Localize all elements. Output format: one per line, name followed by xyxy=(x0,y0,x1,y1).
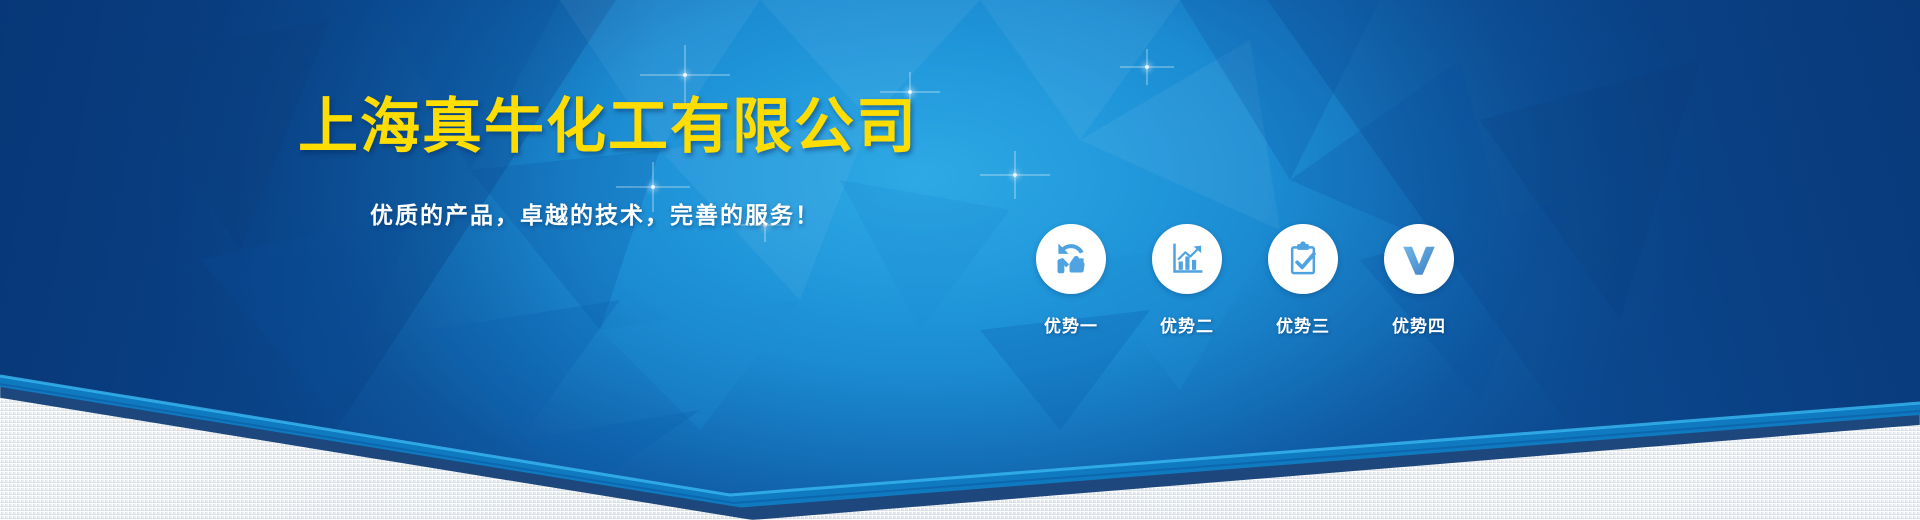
advantage-item-4[interactable]: 优势四 xyxy=(1384,224,1454,337)
advantage-icon-circle-2 xyxy=(1152,224,1222,294)
bar-chart-growth-icon xyxy=(1167,239,1207,279)
clipboard-check-icon xyxy=(1283,239,1323,279)
advantage-icon-circle-1 xyxy=(1036,224,1106,294)
banner-content: 上海真牛化工有限公司 优质的产品，卓越的技术，完善的服务！ xyxy=(0,0,1920,520)
advantage-item-2[interactable]: 优势二 xyxy=(1152,224,1222,337)
advantage-label-2: 优势二 xyxy=(1160,312,1214,337)
advantage-item-1[interactable]: 优势一 xyxy=(1036,224,1106,337)
advantage-label-1: 优势一 xyxy=(1044,312,1098,337)
company-slogan: 优质的产品，卓越的技术，完善的服务！ xyxy=(370,196,820,230)
advantage-label-4: 优势四 xyxy=(1392,312,1446,337)
advantages-list: 优势一 xyxy=(1036,224,1454,337)
refresh-thumbs-up-icon xyxy=(1050,238,1092,280)
advantage-item-3[interactable]: 优势三 xyxy=(1268,224,1338,337)
advantage-icon-circle-4 xyxy=(1384,224,1454,294)
advantage-label-3: 优势三 xyxy=(1276,312,1330,337)
company-title: 上海真牛化工有限公司 xyxy=(298,92,918,161)
v-chevron-icon xyxy=(1398,238,1440,280)
advantage-icon-circle-3 xyxy=(1268,224,1338,294)
company-hero-banner: 上海真牛化工有限公司 优质的产品，卓越的技术，完善的服务！ xyxy=(0,0,1920,520)
